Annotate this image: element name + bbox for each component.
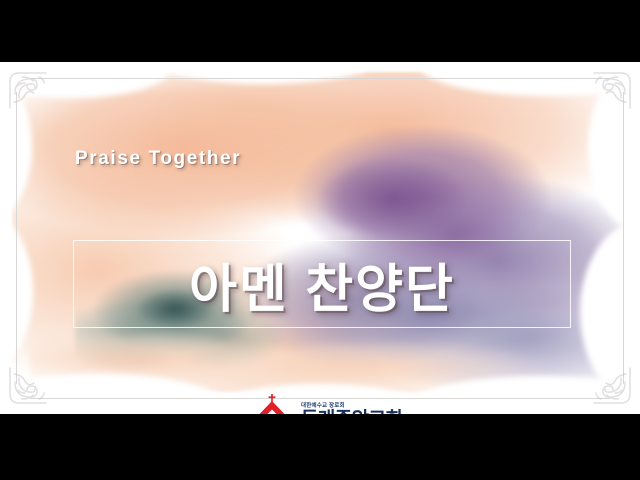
letterbox-bar-bottom — [0, 414, 640, 480]
slide-content: Praise Together 아멘 찬양단 대한예수교 장로회 동래중앙교회 … — [0, 62, 640, 414]
church-logo-wordmark: 대한예수교 장로회 동래중앙교회 Dongnae Central Presbyt… — [301, 404, 418, 415]
corner-flourish-icon — [590, 364, 634, 408]
video-slide-screenshot: Praise Together 아멘 찬양단 대한예수교 장로회 동래중앙교회 … — [0, 0, 640, 480]
letterbox-bar-top — [0, 0, 640, 62]
slide-eyebrow-text: Praise Together — [75, 148, 241, 170]
corner-flourish-icon — [590, 68, 634, 112]
church-logo: 대한예수교 장로회 동래중앙교회 Dongnae Central Presbyt… — [247, 393, 418, 414]
watercolor-wash-peach-lower — [30, 324, 600, 404]
corner-flourish-icon — [6, 364, 50, 408]
wash-edge-mask — [150, 62, 380, 84]
frame-border-left — [16, 92, 17, 384]
frame-border-right — [623, 92, 624, 384]
church-roof-cross-icon — [247, 393, 297, 414]
corner-flourish-icon — [6, 68, 50, 112]
frame-border-top — [30, 78, 610, 79]
slide-title: 아멘 찬양단 — [73, 240, 571, 328]
watercolor-wash-peach — [12, 72, 622, 392]
